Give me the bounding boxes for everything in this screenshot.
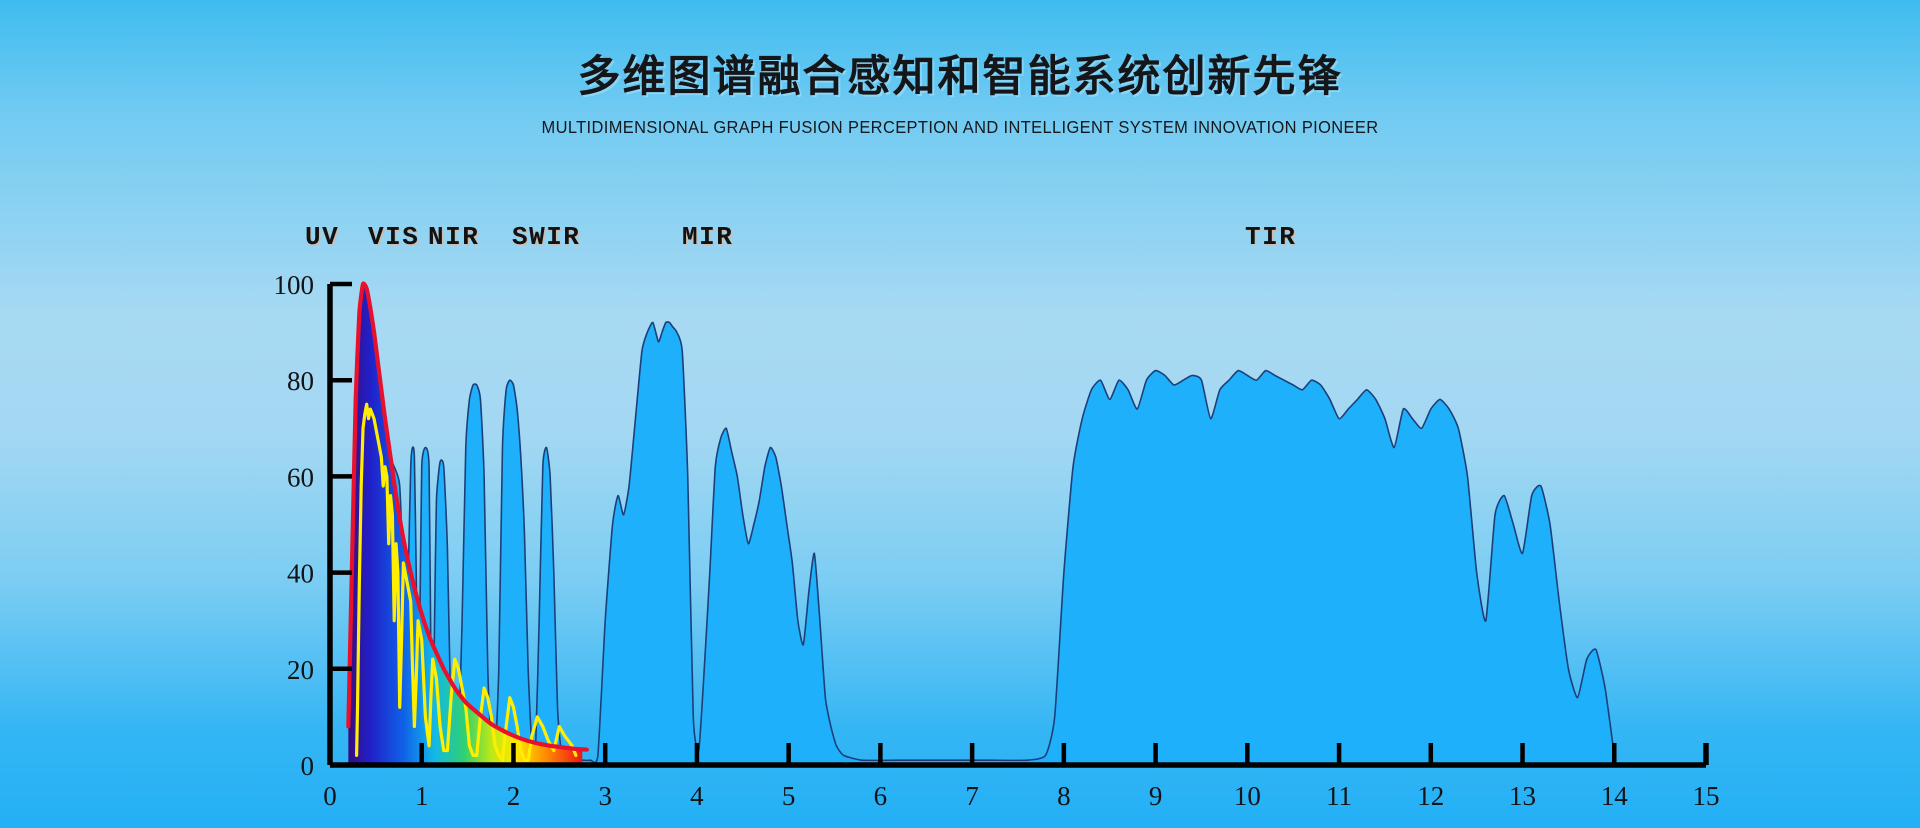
x-tick-label: 4	[690, 781, 704, 811]
y-tick-label: 60	[287, 462, 314, 492]
x-tick-label: 14	[1601, 781, 1629, 811]
x-tick-label: 3	[598, 781, 612, 811]
y-tick-label: 20	[287, 655, 314, 685]
y-tick-label: 40	[287, 559, 314, 589]
x-tick-label: 10	[1234, 781, 1261, 811]
x-tick-label: 8	[1057, 781, 1071, 811]
atmospheric-window-area	[351, 322, 1614, 765]
y-tick-label: 0	[301, 751, 315, 781]
x-tick-label: 2	[507, 781, 521, 811]
x-tick-label: 9	[1149, 781, 1163, 811]
x-tick-label: 1	[415, 781, 429, 811]
y-tick-label: 100	[274, 270, 315, 300]
spectral-banner: 多维图谱融合感知和智能系统创新先锋 MULTIDIMENSIONAL GRAPH…	[0, 0, 1920, 828]
x-tick-label: 15	[1693, 781, 1720, 811]
x-tick-label: 6	[874, 781, 888, 811]
x-tick-label: 11	[1326, 781, 1352, 811]
y-tick-label: 80	[287, 366, 314, 396]
x-tick-label: 7	[965, 781, 979, 811]
x-tick-label: 12	[1417, 781, 1444, 811]
spectrum-chart: 0204060801000123456789101112131415	[0, 0, 1920, 828]
x-tick-label: 5	[782, 781, 796, 811]
plot-area	[347, 284, 1615, 765]
x-tick-label: 13	[1509, 781, 1536, 811]
x-tick-label: 0	[323, 781, 337, 811]
